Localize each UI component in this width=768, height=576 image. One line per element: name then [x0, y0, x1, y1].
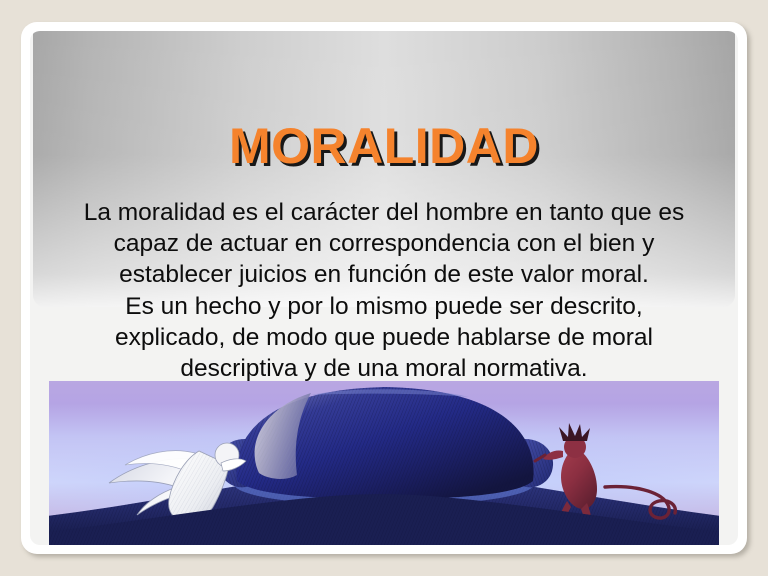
- slide-canvas: MORALIDAD La moralidad es el carácter de…: [30, 31, 738, 545]
- body-line: establecer juicios en función de este va…: [44, 259, 724, 290]
- body-line: Es un hecho y por lo mismo puede ser des…: [44, 291, 724, 322]
- page-title: MORALIDAD: [30, 121, 738, 171]
- body-line: descriptiva y de una moral normativa.: [44, 353, 724, 384]
- body-line: La moralidad es el carácter del hombre e…: [44, 197, 724, 228]
- slide-frame: MORALIDAD La moralidad es el carácter de…: [21, 22, 747, 554]
- slide-body-text: La moralidad es el carácter del hombre e…: [44, 197, 724, 384]
- body-line: capaz de actuar en correspondencia con e…: [44, 228, 724, 259]
- angel-and-devil-illustration: [49, 381, 719, 545]
- body-line: explicado, de modo que puede hablarse de…: [44, 322, 724, 353]
